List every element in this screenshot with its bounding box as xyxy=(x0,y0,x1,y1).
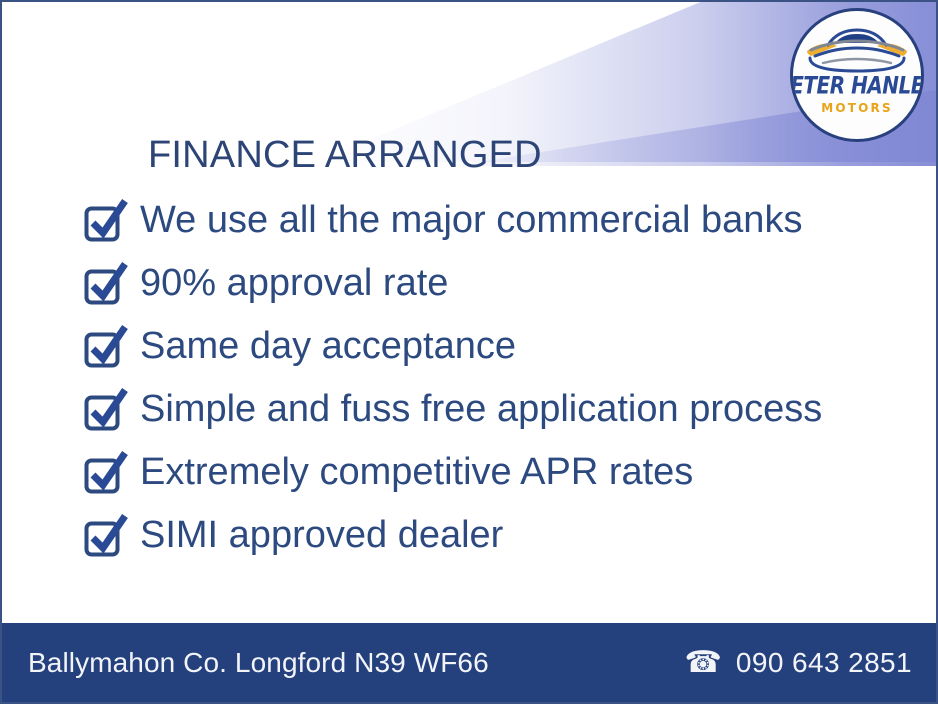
telephone-icon: ☎ xyxy=(685,648,722,678)
checkbox-checked-icon xyxy=(82,259,130,307)
dealer-address: Ballymahon Co. Longford N39 WF66 xyxy=(28,647,489,679)
checkbox-checked-icon xyxy=(82,196,130,244)
car-front-icon xyxy=(801,24,913,74)
list-item-label: 90% approval rate xyxy=(140,264,448,302)
checkbox-checked-icon xyxy=(82,448,130,496)
logo-wordmark: PETER HANLEY xyxy=(790,73,924,97)
list-item: 90% approval rate xyxy=(82,251,896,314)
list-item: Same day acceptance xyxy=(82,314,896,377)
finance-arranged-advert: PETER HANLEY MOTORS FINANCE ARRANGED We … xyxy=(0,0,938,704)
feature-list: We use all the major commercial banks 90… xyxy=(82,188,896,566)
phone-number[interactable]: 090 643 2851 xyxy=(736,647,912,679)
list-item-label: Same day acceptance xyxy=(140,327,516,365)
dealer-logo[interactable]: PETER HANLEY MOTORS xyxy=(790,8,924,142)
list-item: Extremely competitive APR rates xyxy=(82,440,896,503)
list-item-label: Extremely competitive APR rates xyxy=(140,453,693,491)
checkbox-checked-icon xyxy=(82,322,130,370)
list-item-label: Simple and fuss free application process xyxy=(140,390,822,428)
phone-block[interactable]: ☎ 090 643 2851 xyxy=(685,647,912,679)
list-item: We use all the major commercial banks xyxy=(82,188,896,251)
checkbox-checked-icon xyxy=(82,511,130,559)
list-item: SIMI approved dealer xyxy=(82,503,896,566)
footer-bar: Ballymahon Co. Longford N39 WF66 ☎ 090 6… xyxy=(2,623,936,702)
list-item: Simple and fuss free application process xyxy=(82,377,896,440)
logo-subtitle: MOTORS xyxy=(821,102,893,114)
list-item-label: We use all the major commercial banks xyxy=(140,201,802,239)
checkbox-checked-icon xyxy=(82,385,130,433)
page-title: FINANCE ARRANGED xyxy=(148,134,542,177)
list-item-label: SIMI approved dealer xyxy=(140,516,503,554)
